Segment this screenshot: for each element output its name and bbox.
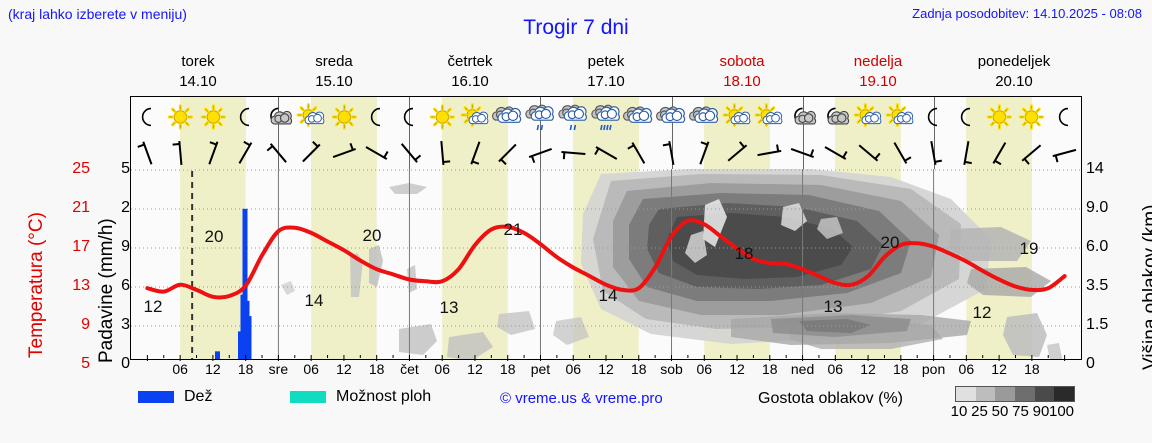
legend-item-showers: Možnost ploh [290,388,431,406]
wind-barb-icon [229,137,262,169]
daylight-band [442,169,508,359]
sun-icon [164,97,197,137]
sun-icon [328,97,361,137]
cloud-tick: 9.0 [1086,199,1126,217]
x-axis-tick-label: 12 [205,361,221,377]
x-axis-tick-label: 06 [565,361,581,377]
wind-barb-icon [688,137,721,169]
cloud-density-swatch [976,387,996,401]
wind-barb-icon [197,137,230,169]
x-axis-tick-label: 06 [696,361,712,377]
temperature-axis-ticks: 25 21 17 13 9 5 [28,160,90,365]
moon-cloud-icon [786,97,819,137]
cloud-density-scale-labels: 1025507590100 [948,403,1082,421]
x-axis-tick-label: 12 [598,361,614,377]
cloud-tick: 0 [1086,355,1126,373]
day-date: 14.10 [130,72,266,92]
day-name: petek [538,52,674,72]
x-axis-tick-label: 06 [434,361,450,377]
daylight-band [180,169,246,359]
day-header: sobota 18.10 [674,52,810,94]
day-date: 15.10 [266,72,402,92]
x-axis-tick-label: pet [531,361,550,377]
x-axis-tick-label: 06 [828,361,844,377]
cloud-tick: 1.5 [1086,316,1126,334]
x-axis-tick-label: 06 [303,361,319,377]
rain-swatch [138,391,174,403]
wind-barb-icon [590,137,623,169]
cloud-tick: 3.5 [1086,277,1126,295]
cloud-density-scale [955,386,1075,402]
x-axis-tick-label: pon [922,361,945,377]
moon-icon [950,97,983,137]
x-axis-tick-label: 06 [959,361,975,377]
day-name: torek [130,52,266,72]
wind-barb-icon [753,137,786,169]
prec-tick: 5 [98,160,130,178]
showers-swatch [290,391,326,403]
rain-label: Dež [184,388,212,406]
day-header: nedelja 19.10 [810,52,946,94]
day-date: 18.10 [674,72,810,92]
showers-label: Možnost ploh [336,388,431,406]
moon-icon [393,97,426,137]
cloud-rain-heavy-icon [590,97,623,137]
sun-cloud-icon [295,97,328,137]
cloud-density-swatch [956,387,976,401]
wind-barb-icon [557,137,590,169]
x-axis-tick-label: ned [791,361,814,377]
temperature-value-label: 21 [504,220,523,240]
temperature-value-label: 13 [440,298,459,318]
temperature-value-label: 18 [735,244,754,264]
moon-icon [1048,97,1081,137]
prec-tick: 6 [98,277,130,295]
credit-link[interactable]: © vreme.us & vreme.pro [500,390,663,407]
moon-cloud-icon [262,97,295,137]
cloud-tick: 14 [1086,160,1126,178]
wind-barb-icon [819,137,852,169]
wind-barb-icon [1015,137,1048,169]
day-name: sreda [266,52,402,72]
cloud-tick: 6.0 [1086,238,1126,256]
wind-barb-icon [262,137,295,169]
x-axis-tick-label: 12 [991,361,1007,377]
wind-barb-icon [786,137,819,169]
prec-tick: 3 [98,316,130,334]
last-update-label: Zadnja posodobitev: 14.10.2025 - 08:08 [912,6,1142,21]
day-header: četrtek 16.10 [402,52,538,94]
legend: Dež Možnost ploh © vreme.us & vreme.pro … [130,386,1142,426]
day-name: ponedeljek [946,52,1082,72]
moon-icon [229,97,262,137]
temperature-value-label: 20 [881,233,900,253]
weather-icon-row [131,97,1081,137]
day-name: sobota [674,52,810,72]
day-header-strip: torek 14.10 sreda 15.10 četrtek 16.10 pe… [130,52,1082,94]
sun-icon [983,97,1016,137]
temperature-value-label: 13 [824,297,843,317]
x-axis-tick-label: 18 [369,361,385,377]
sun-cloud-icon [721,97,754,137]
graph-area: 122014201321141813201219101812 [131,169,1081,359]
temperature-value-label: 20 [363,226,382,246]
wind-barb-icon [491,137,524,169]
temperature-cloud-precip-chart [131,169,1081,359]
x-axis-tick-label: 18 [500,361,516,377]
temperature-value-label: 12 [144,297,163,317]
wind-barb-icon [131,137,164,169]
wind-barb-icon [622,137,655,169]
precipitation-axis-ticks: 5 2 9 6 3 0 [98,160,130,365]
cloud-density-swatch [1035,387,1055,401]
moon-icon [131,97,164,137]
cloud-density-swatch [995,387,1015,401]
wind-barb-icon [983,137,1016,169]
cloud-density-scale-label: 50 [992,403,1009,420]
cloud-density-title: Gostota oblakov (%) [758,390,903,408]
day-header: petek 17.10 [538,52,674,94]
day-date: 20.10 [946,72,1082,92]
wind-barb-icon [295,137,328,169]
x-axis-tick-label: 18 [631,361,647,377]
x-axis-tick-label: 12 [467,361,483,377]
sun-cloud-icon [884,97,917,137]
cloud-height-axis-title: Višina oblakov (km) [1140,205,1152,370]
cloud-icon [491,97,524,137]
day-date: 19.10 [810,72,946,92]
sun-cloud-icon [753,97,786,137]
wind-barb-icon [328,137,361,169]
cloud-rain-light-icon [524,97,557,137]
x-axis-labels: 061218sre061218čet061218pet061218sob0612… [131,361,1081,381]
wind-barb-icon [950,137,983,169]
x-axis-tick-label: 12 [729,361,745,377]
cloud-density-scale-label: 10 [951,403,968,420]
moon-cloud-icon [819,97,852,137]
day-header: torek 14.10 [130,52,266,94]
day-header: sreda 15.10 [266,52,402,94]
wind-barb-icon [1048,137,1081,169]
cloud-icon [622,97,655,137]
precipitation-bar [247,316,252,359]
x-axis-tick-label: 18 [1024,361,1040,377]
temperature-value-label: 14 [305,291,324,311]
cloud-height-axis-ticks: 14 9.0 6.0 3.5 1.5 0 [1086,160,1126,365]
sun-icon [426,97,459,137]
moon-icon [360,97,393,137]
x-axis-tick-label: 06 [172,361,188,377]
x-axis-ticks [131,355,1081,361]
wind-barb-icon [393,137,426,169]
temperature-value-label: 19 [1020,239,1039,259]
prec-tick: 9 [98,238,130,256]
cloud-density-swatch [1054,387,1074,401]
wind-barb-icon [852,137,885,169]
cloud-density-swatch [1015,387,1035,401]
temp-tick: 17 [28,238,90,256]
day-date: 17.10 [538,72,674,92]
wind-barb-icon [426,137,459,169]
temp-tick: 21 [28,199,90,217]
wind-barb-row [131,137,1081,169]
x-axis-tick-label: sre [269,361,288,377]
wind-barb-icon [655,137,688,169]
cloud-density-scale-label: 25 [971,403,988,420]
temp-tick: 5 [28,355,90,373]
day-header: ponedeljek 20.10 [946,52,1082,94]
wind-barb-icon [884,137,917,169]
x-axis-tick-label: 18 [238,361,254,377]
prec-tick: 0 [98,355,130,373]
prec-tick: 2 [98,199,130,217]
temperature-value-label: 20 [205,227,224,247]
wind-barb-icon [459,137,492,169]
day-name: četrtek [402,52,538,72]
x-axis-tick-label: čet [400,361,419,377]
temp-tick: 13 [28,277,90,295]
temperature-value-label: 12 [973,303,992,323]
cloud-icon [655,97,688,137]
temp-tick: 9 [28,316,90,334]
wind-barb-icon [917,137,950,169]
legend-item-rain: Dež [138,388,212,406]
wind-barb-icon [360,137,393,169]
day-date: 16.10 [402,72,538,92]
sun-icon [1015,97,1048,137]
x-axis-tick-label: 12 [336,361,352,377]
x-axis-tick-label: sob [660,361,683,377]
x-axis-tick-label: 18 [762,361,778,377]
cloud-rain-light-icon [557,97,590,137]
cloud-density-scale-label: 90 [1033,403,1050,420]
moon-icon [917,97,950,137]
sun-icon [197,97,230,137]
x-axis-tick-label: 12 [860,361,876,377]
wind-barb-icon [164,137,197,169]
temp-tick: 25 [28,160,90,178]
wind-barb-icon [721,137,754,169]
day-name: nedelja [810,52,946,72]
cloud-density-scale-label: 75 [1012,403,1029,420]
cloud-density-scale-label: 100 [1049,403,1074,420]
cloud-icon [688,97,721,137]
temperature-value-label: 14 [599,286,618,306]
x-axis-tick-label: 18 [893,361,909,377]
sun-cloud-icon [852,97,885,137]
sun-cloud-icon [459,97,492,137]
wind-barb-icon [524,137,557,169]
